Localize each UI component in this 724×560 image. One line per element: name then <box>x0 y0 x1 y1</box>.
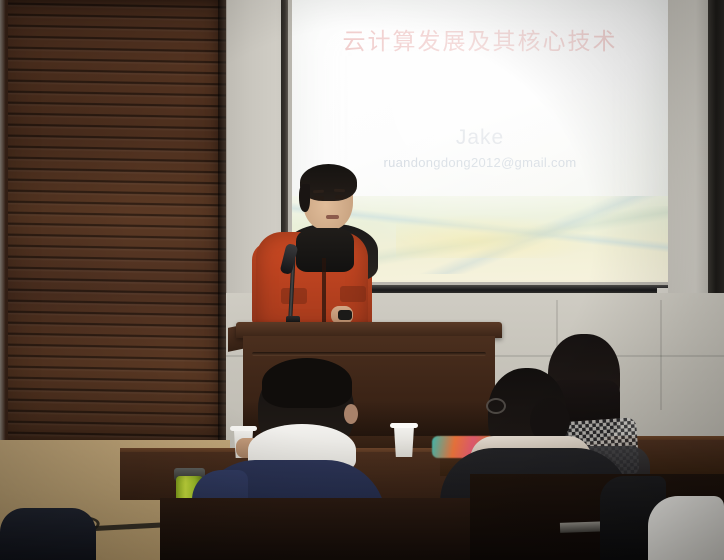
audience-far-left-seat <box>0 508 96 560</box>
audience-front-hair <box>262 358 352 408</box>
audience-front-ear <box>344 404 358 424</box>
slide-author-email: ruandongdong2012@gmail.com <box>292 155 668 170</box>
speaker-mouth <box>326 215 339 219</box>
desk-front-panel <box>160 498 500 560</box>
wooden-slat-wall <box>0 0 226 445</box>
speaker-jacket-pocket-right <box>340 286 366 302</box>
audience-far-right-white-jacket <box>648 496 724 560</box>
presentation-clicker <box>338 310 352 320</box>
speaker-eye-right <box>335 195 345 199</box>
paper-cup-right-rim <box>390 423 418 428</box>
wall-panel-line <box>660 300 662 410</box>
podium-front-groove <box>252 352 486 356</box>
paper-cup-left-rim <box>230 426 257 431</box>
speaker-jacket-zipper <box>322 258 326 324</box>
lecture-photo-scene: 云计算发展及其核心技术 Jake ruandongdong2012@gmail.… <box>0 0 724 560</box>
paper-cup-right <box>392 425 416 457</box>
slide-author-name: Jake <box>292 126 668 150</box>
right-wall-dark-strip <box>708 0 724 300</box>
speaker-hair-side <box>299 184 310 212</box>
speaker-eyebrow-right <box>334 189 345 193</box>
speaker-jacket-pocket-left <box>281 288 307 304</box>
slide-title: 云计算发展及其核心技术 <box>292 22 668 56</box>
speaker-eye-left <box>314 196 324 200</box>
wood-wall-left-edge <box>0 0 8 445</box>
glasses-icon <box>486 398 506 414</box>
slide-yellow-highlight <box>396 214 596 258</box>
